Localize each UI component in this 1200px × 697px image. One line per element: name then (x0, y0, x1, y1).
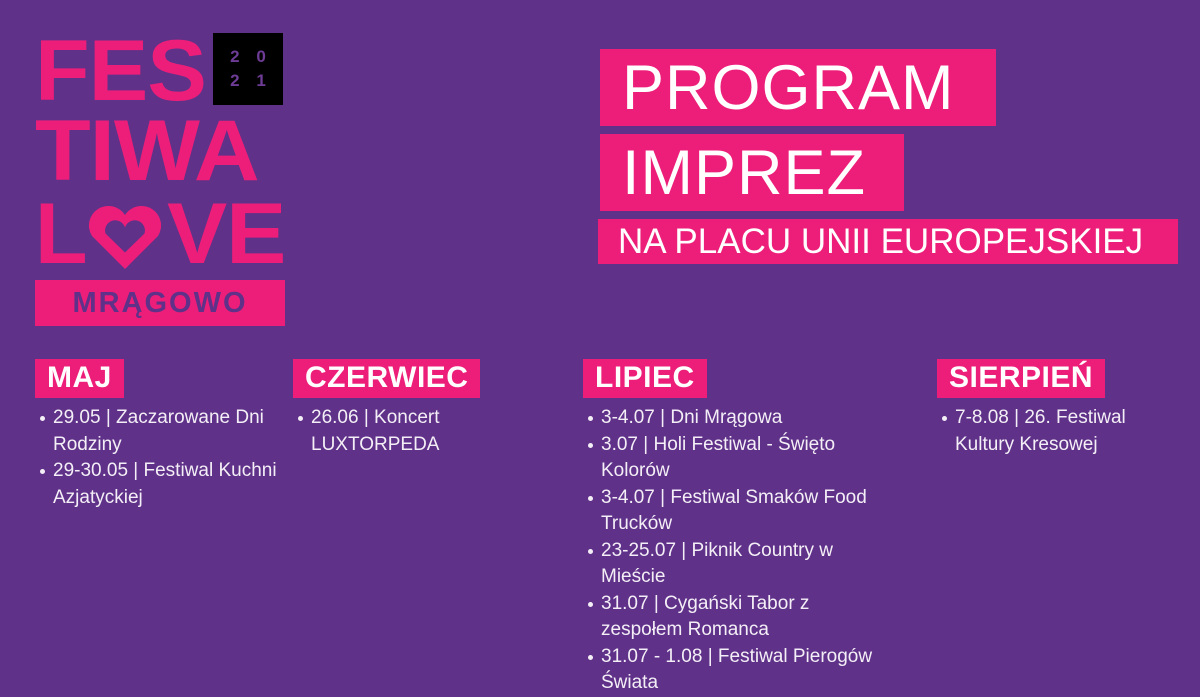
month-column-lipiec: LIPIEC 3-4.07 | Dni Mrągowa 3.07 | Holi … (583, 359, 893, 697)
month-header-maj: MAJ (35, 359, 124, 398)
list-item: 3-4.07 | Dni Mrągowa (601, 405, 893, 432)
logo-city-label: MRĄGOWO (72, 287, 247, 320)
list-item: 26.06 | Koncert LUXTORPEDA (311, 405, 543, 458)
year-badge-bottom: 2 1 (224, 69, 272, 93)
year-badge: 2 0 2 1 (213, 33, 283, 105)
month-column-czerwiec: CZERWIEC 26.06 | Koncert LUXTORPEDA (293, 359, 543, 458)
logo-city-bar: MRĄGOWO (35, 280, 285, 326)
month-header-lipiec: LIPIEC (583, 359, 707, 398)
list-item: 29.05 | Zaczarowane Dni Rodziny (53, 405, 285, 458)
page-title-line2: IMPREZ (600, 134, 904, 211)
list-item: 3-4.07 | Festiwal Smaków Food Trucków (601, 485, 893, 538)
page-subtitle: NA PLACU UNII EUROPEJSKIEJ (598, 219, 1178, 264)
logo-letters-ve: VE (167, 191, 285, 277)
page-title-line1: PROGRAM (600, 49, 996, 126)
logo-text-tiwa: TIWA (35, 108, 259, 194)
month-column-sierpien: SIERPIEŃ 7-8.08 | 26. Festiwal Kultury K… (937, 359, 1187, 458)
month-header-sierpien: SIERPIEŃ (937, 359, 1105, 398)
year-badge-top: 2 0 (224, 45, 272, 69)
list-item: 31.07 - 1.08 | Festiwal Pierogów Świata (601, 644, 893, 697)
poster-canvas: FES TIWA L VE 2 0 2 1 MRĄGOWO PROGRAM IM… (0, 0, 1200, 675)
festival-logo: FES TIWA L VE 2 0 2 1 MRĄGOWO (35, 28, 290, 328)
event-list-sierpien: 7-8.08 | 26. Festiwal Kultury Kresowej (937, 405, 1187, 458)
logo-text-love: L VE (35, 191, 290, 281)
event-list-lipiec: 3-4.07 | Dni Mrągowa 3.07 | Holi Festiwa… (583, 405, 893, 697)
list-item: 31.07 | Cygański Tabor z zespołem Romanc… (601, 591, 893, 644)
event-list-maj: 29.05 | Zaczarowane Dni Rodziny 29-30.05… (35, 405, 285, 511)
list-item: 3.07 | Holi Festiwal - Święto Kolorów (601, 432, 893, 485)
list-item: 7-8.08 | 26. Festiwal Kultury Kresowej (955, 405, 1187, 458)
logo-letter-l: L (35, 191, 87, 277)
event-list-czerwiec: 26.06 | Koncert LUXTORPEDA (293, 405, 543, 458)
month-column-maj: MAJ 29.05 | Zaczarowane Dni Rodziny 29-3… (35, 359, 285, 511)
heart-icon (88, 204, 162, 270)
logo-text-fes: FES (35, 28, 206, 114)
list-item: 29-30.05 | Festiwal Kuchni Azjatyckiej (53, 458, 285, 511)
list-item: 23-25.07 | Piknik Country w Mieście (601, 538, 893, 591)
month-header-czerwiec: CZERWIEC (293, 359, 480, 398)
